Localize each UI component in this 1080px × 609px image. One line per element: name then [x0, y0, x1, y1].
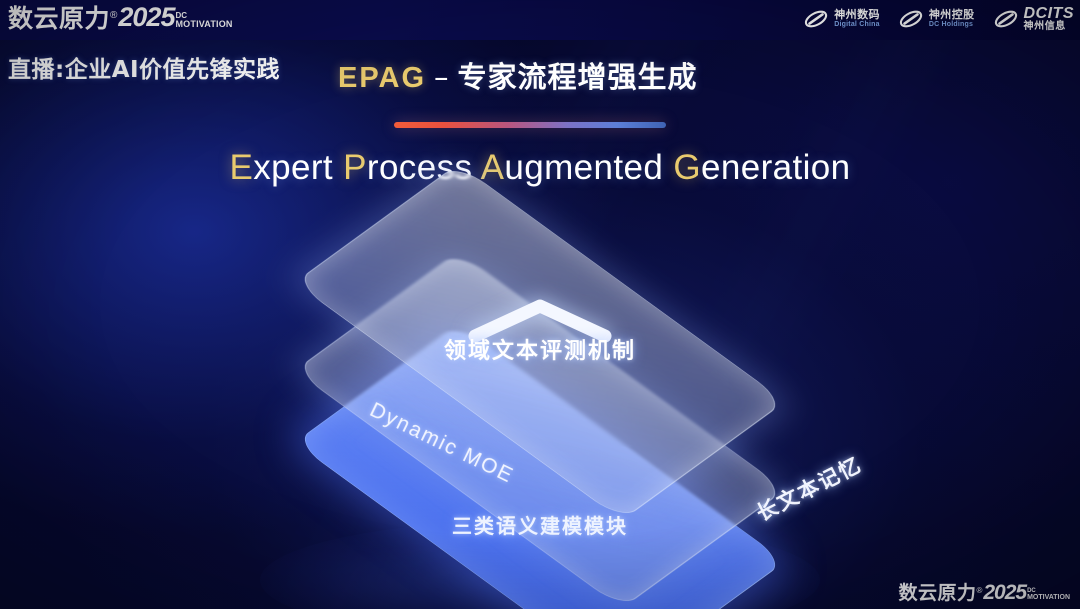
brand-watermark-registered: ®	[976, 587, 982, 595]
heading-rest-augmented: ugmented	[504, 148, 663, 187]
heading-rest-generation: eneration	[701, 148, 851, 187]
heading-space-3	[663, 148, 673, 187]
epag-expansion-heading: Expert Process Augmented Generation	[0, 148, 1080, 188]
heading-initial-p: P	[343, 148, 367, 187]
partner-logo-text: DCITS 神州信息	[1024, 5, 1075, 33]
brand-watermark-motivation: MOTIVATION	[1027, 594, 1070, 601]
heading-initial-a: A	[481, 148, 505, 187]
swoosh-icon	[993, 8, 1019, 30]
page-title-cn: 专家流程增强生成	[458, 60, 698, 94]
partner-logo-dcits: DCITS 神州信息	[993, 5, 1075, 33]
partner-name-cn: 神州控股	[929, 9, 975, 21]
brand-watermark-cn: 数云原力	[898, 584, 976, 603]
gradient-divider	[394, 122, 666, 128]
partner-logo-dc-holdings: 神州控股 DC Holdings	[898, 8, 975, 30]
slide-canvas: 数云原力 ® 2025 DC MOTIVATION 直播:企业AI价值先锋实践 …	[0, 0, 1080, 609]
brand-logo-year: 2025	[118, 4, 174, 31]
page-title-dash: –	[434, 60, 450, 94]
page-title: EPAG–专家流程增强生成	[338, 54, 698, 96]
live-subtitle: 直播:企业AI价值先锋实践	[8, 50, 280, 84]
partner-logo-text: 神州控股 DC Holdings	[929, 9, 975, 28]
heading-initial-e: E	[229, 148, 253, 187]
partner-logo-group: 神州数码 Digital China 神州控股 DC Holdings DCIT…	[803, 5, 1074, 33]
swoosh-icon	[898, 8, 924, 30]
heading-initial-g: G	[673, 148, 701, 187]
partner-name-cn: 神州数码	[834, 9, 880, 21]
partner-name-en: Digital China	[834, 21, 880, 29]
partner-name-en: 神州信息	[1024, 22, 1075, 33]
brand-logo-cn: 数云原力	[8, 6, 110, 31]
stack-layer-bottom-label: 三类语义建模模块	[0, 510, 1080, 539]
page-title-abbr: EPAG	[338, 62, 426, 94]
partner-logo-digital-china: 神州数码 Digital China	[803, 8, 880, 30]
brand-logo: 数云原力 ® 2025 DC MOTIVATION	[8, 4, 233, 31]
brand-watermark: 数云原力 ® 2025 DC MOTIVATION	[898, 582, 1070, 603]
heading-space-1	[333, 148, 343, 187]
brand-watermark-dc-motivation: DC MOTIVATION	[1027, 588, 1070, 601]
brand-logo-dc-motivation: DC MOTIVATION	[175, 12, 232, 29]
partner-name-cn: DCITS	[1024, 5, 1075, 22]
brand-logo-motivation: MOTIVATION	[175, 20, 232, 29]
swoosh-icon	[803, 8, 829, 30]
partner-logo-text: 神州数码 Digital China	[834, 9, 880, 28]
stack-layer-top-label: 领域文本评测机制	[0, 333, 1080, 365]
brand-watermark-year: 2025	[983, 582, 1026, 603]
heading-rest-expert: xpert	[253, 148, 333, 187]
brand-logo-registered: ®	[110, 11, 117, 21]
partner-name-en: DC Holdings	[929, 21, 975, 29]
